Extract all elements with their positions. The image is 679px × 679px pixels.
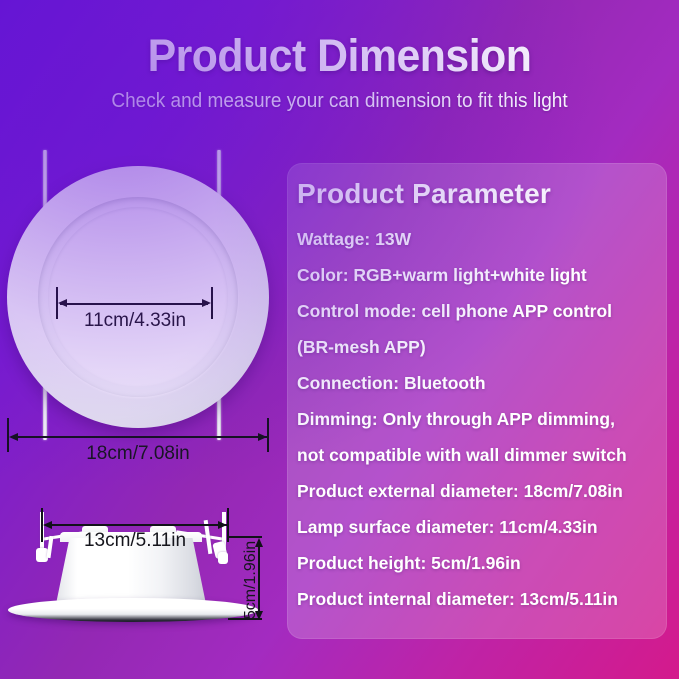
side-width-arrow-left <box>43 521 52 529</box>
parameter-row: Control mode: cell phone APP control <box>297 293 661 329</box>
panel-title: Product Parameter <box>297 177 551 211</box>
parameter-value: 11cm/4.33in <box>494 517 597 537</box>
parameter-row: Product internal diameter: 13cm/5.11in <box>297 581 661 617</box>
parameter-row: Wattage: 13W <box>297 221 661 257</box>
inner-dim-arrow-left <box>58 299 67 307</box>
outer-dim-line <box>11 436 267 438</box>
parameter-label: Product height: <box>297 553 426 573</box>
parameter-value: cell phone APP control <box>417 301 612 321</box>
parameter-value: 13cm/5.11in <box>515 589 618 609</box>
parameter-row: Product external diameter: 18cm/7.08in <box>297 473 661 509</box>
parameter-label: Control mode: <box>297 301 417 321</box>
parameter-row: Product height: 5cm/1.96in <box>297 545 661 581</box>
parameter-value: Only through APP dimming, <box>378 409 615 429</box>
inner-dim-arrow-right <box>202 299 211 307</box>
side-height-label: 5cm/1.96in <box>240 532 262 628</box>
parameter-value: 13W <box>370 229 411 249</box>
outer-dim-arrow-right <box>258 433 267 441</box>
parameter-label: Dimming: <box>297 409 378 429</box>
product-parameter-panel: Product Parameter Wattage: 13WColor: RGB… <box>287 163 667 639</box>
lamp-surface <box>48 207 228 387</box>
parameter-label: Wattage: <box>297 229 370 249</box>
inner-dimension-label: 11cm/4.33in <box>56 310 214 332</box>
parameter-value: Bluetooth <box>399 373 486 393</box>
parameter-value: 18cm/7.08in <box>519 481 623 501</box>
parameter-value: RGB+warm light+white light <box>349 265 587 285</box>
page-title: Product Dimension <box>17 30 662 82</box>
parameter-label: Product internal diameter: <box>297 589 515 609</box>
outer-dim-arrow-left <box>9 433 18 441</box>
parameter-row: Dimming: Only through APP dimming, <box>297 401 661 437</box>
top-view-diagram: 11cm/4.33in 18cm/7.08in <box>0 150 290 470</box>
side-width-label: 13cm/5.11in <box>41 530 229 552</box>
parameter-row: Lamp surface diameter: 11cm/4.33in <box>297 509 661 545</box>
parameter-label: Color: <box>297 265 349 285</box>
outer-dimension-label: 18cm/7.08in <box>7 443 269 465</box>
parameter-row: Color: RGB+warm light+white light <box>297 257 661 293</box>
parameter-label: Product external diameter: <box>297 481 519 501</box>
parameter-row: Connection: Bluetooth <box>297 365 661 401</box>
inner-dim-line <box>60 303 208 305</box>
side-flange-rim <box>8 598 258 622</box>
parameter-label: Connection: <box>297 373 399 393</box>
side-width-line <box>45 524 227 526</box>
side-view-diagram: 13cm/5.11in 5cm/1.96in <box>0 490 290 679</box>
mounting-clip-top-left <box>43 150 47 208</box>
parameter-row-continuation: (BR-mesh APP) <box>297 329 661 365</box>
parameter-list: Wattage: 13WColor: RGB+warm light+white … <box>297 221 661 617</box>
side-width-arrow-right <box>218 521 227 529</box>
parameter-row-continuation: not compatible with wall dimmer switch <box>297 437 661 473</box>
parameter-label: Lamp surface diameter: <box>297 517 494 537</box>
page-subtitle: Check and measure your can dimension to … <box>17 88 662 114</box>
infographic-canvas: Product Dimension Check and measure your… <box>0 0 679 679</box>
parameter-value: 5cm/1.96in <box>426 553 520 573</box>
